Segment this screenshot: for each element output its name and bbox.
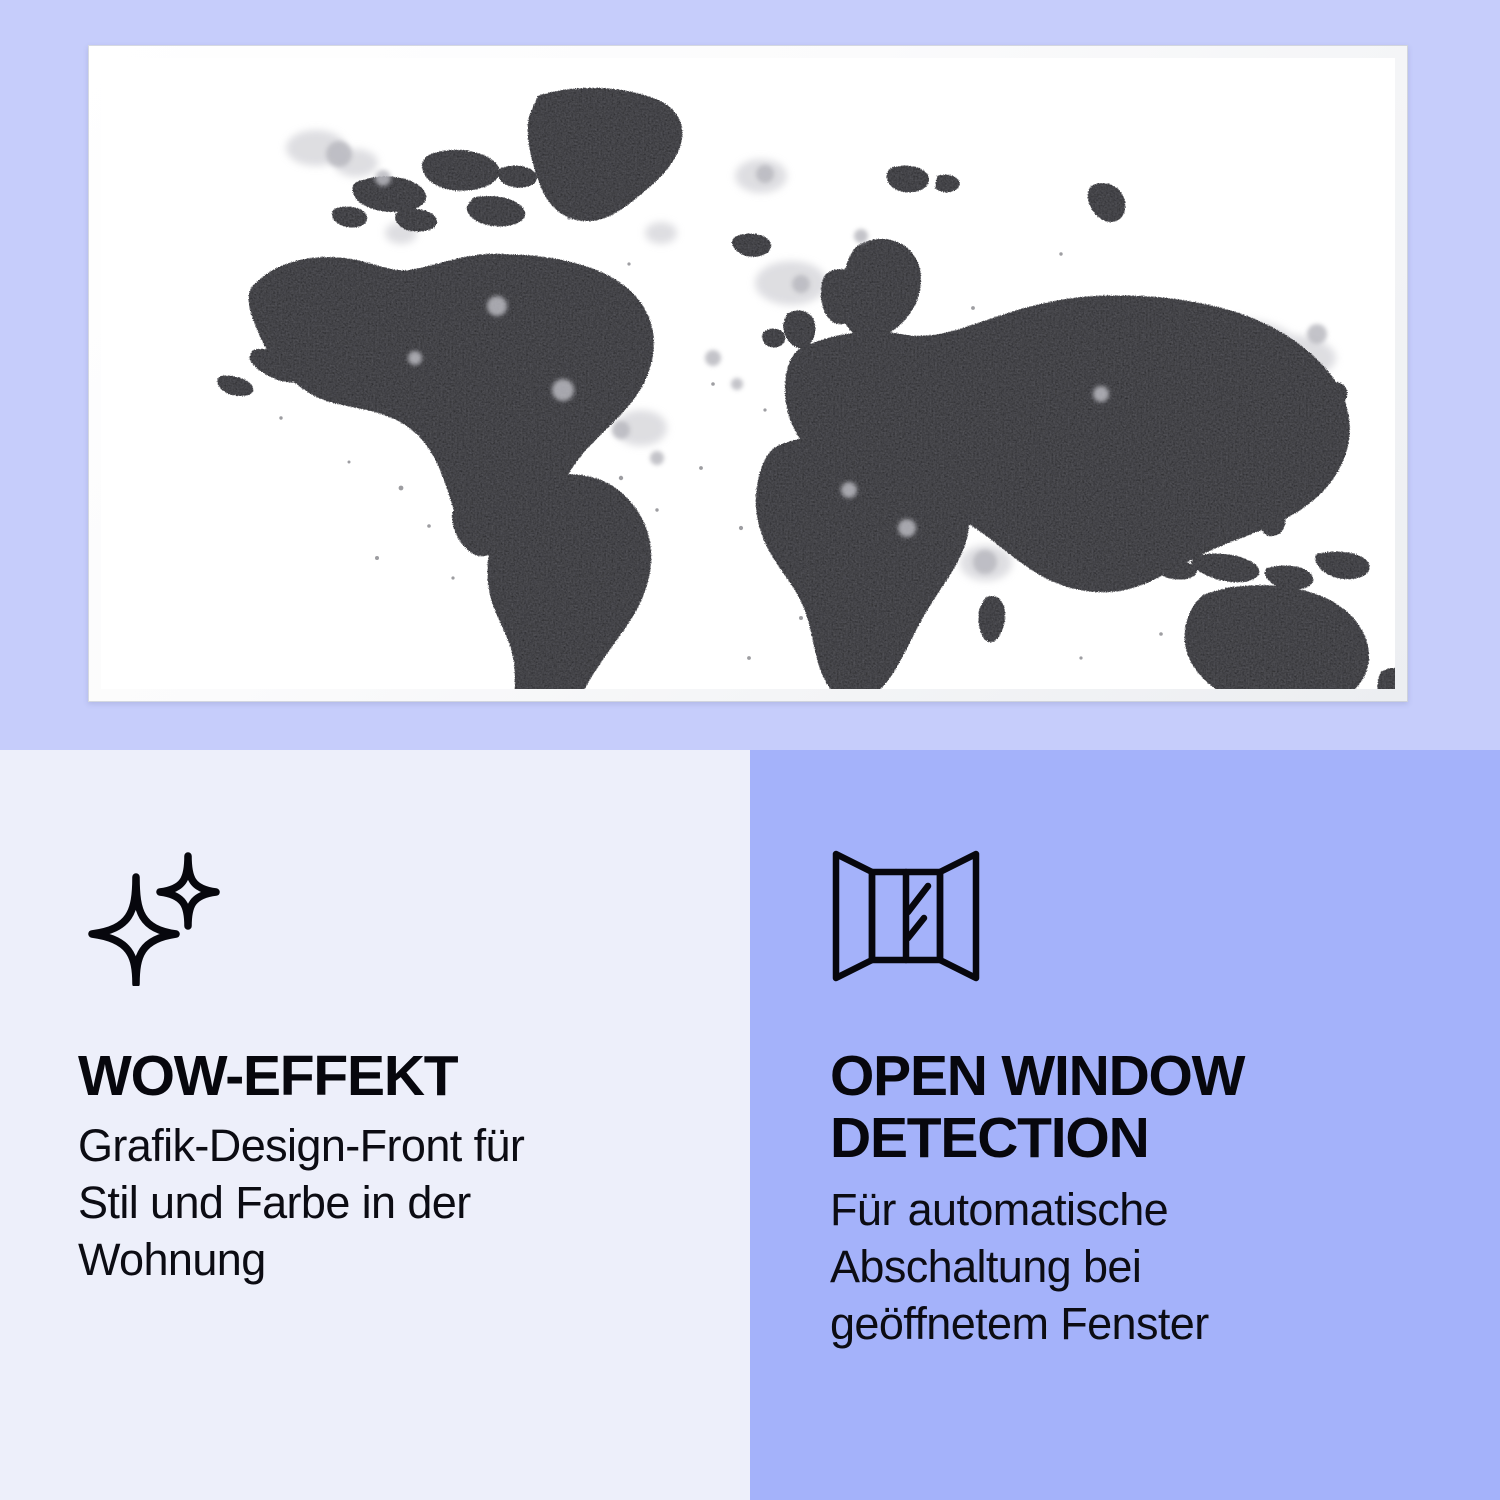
feature-panels: WOW-EFFEKT Grafik-Design-Front für Stil … — [0, 750, 1500, 1500]
feature-panel-wow-effekt: WOW-EFFEKT Grafik-Design-Front für Stil … — [0, 750, 750, 1500]
feature-panel-open-window-detection: OPEN WINDOW DETECTION Für automatische A… — [750, 750, 1500, 1500]
open-window-icon — [830, 846, 1500, 991]
sparkle-icon — [78, 846, 750, 991]
feature-title-open-window-detection: OPEN WINDOW DETECTION — [830, 1045, 1370, 1169]
feature-title-wow-effekt: WOW-EFFEKT — [78, 1045, 618, 1107]
hero-section — [0, 0, 1500, 750]
product-feature-image: WOW-EFFEKT Grafik-Design-Front für Stil … — [0, 0, 1500, 1500]
poster-canvas — [101, 58, 1395, 689]
feature-description-wow-effekt: Grafik-Design-Front für Stil und Farbe i… — [78, 1117, 578, 1288]
world-map-artwork — [101, 58, 1395, 689]
poster-frame — [88, 45, 1408, 702]
feature-description-open-window-detection: Für automatische Abschaltung bei geöffne… — [830, 1181, 1350, 1352]
